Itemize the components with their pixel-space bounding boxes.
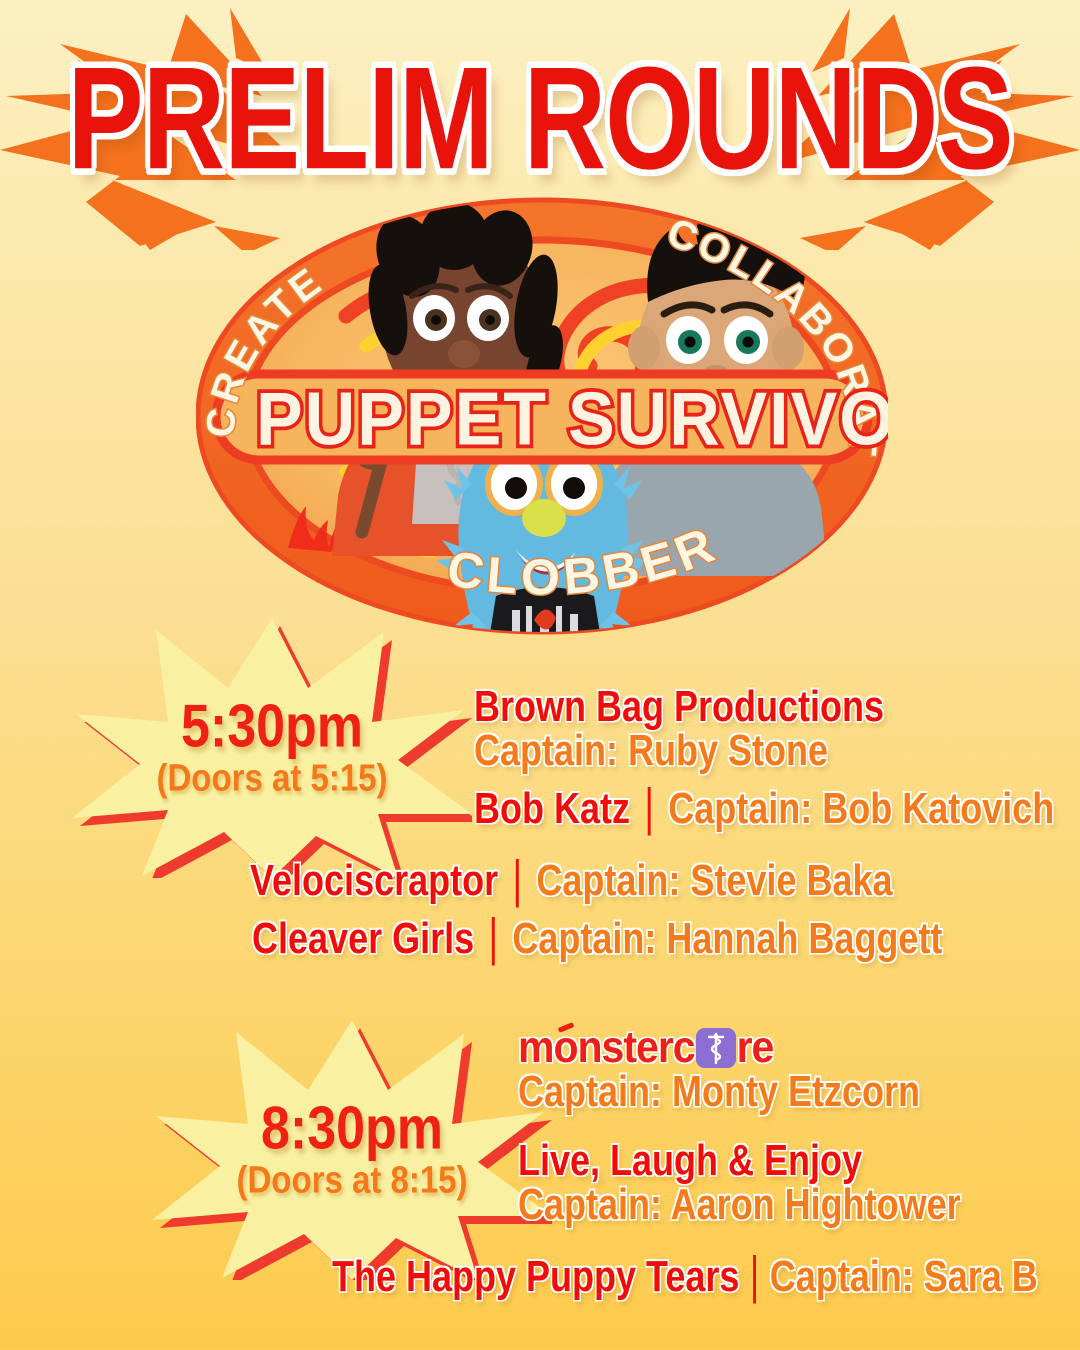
session-1-entry-2: Bob Katz | Captain: Bob Katovich [474,790,1074,828]
puppet-survivor-logo: CREATE COLLABORATE CLOBBER PUPPET SURVIV… [196,196,888,636]
list-item: Live, Laugh & Enjoy [518,1142,1078,1180]
monstercare-part-1: m [518,1024,553,1071]
session-1-time: 5:30pm [181,696,363,758]
list-item: Velociscraptor | Captain: Stevie Baka [250,862,1080,900]
session-1-entries: Brown Bag Productions Captain: Ruby Ston… [474,688,1074,770]
team-captain: Captain: Sara B [770,1253,1038,1300]
session-2-entry-2: Live, Laugh & Enjoy Captain: Aaron Hight… [518,1142,1078,1224]
list-item: Bob Katz | Captain: Bob Katovich [474,790,1074,828]
list-item: Brown Bag Productions [474,688,1074,726]
team-name: Cleaver Girls [252,915,474,962]
session-2-time-burst: 8:30pm (Doors at 8:15) [152,1020,552,1280]
session-1-entry-4: Cleaver Girls | Captain: Hannah Baggett [252,920,1080,958]
rod-of-asclepius-icon [696,1028,736,1068]
team-name: Live, Laugh & Enjoy [518,1137,862,1184]
team-captain: Captain: Monty Etzcorn [518,1068,920,1115]
logo-word-puppet: PUPPET [256,377,548,461]
team-name: The Happy Puppy Tears [332,1253,739,1300]
monstercare-part-2: nsterc [578,1024,695,1071]
separator: | [744,1248,765,1303]
team-captain: Captain: Hannah Baggett [512,915,942,962]
session-1-doors: (Doors at 5:15) [156,758,387,798]
team-name: Bob Katz [474,785,630,832]
list-item: Captain: Aaron Hightower [518,1186,1078,1224]
list-item: m o nsterc [518,1026,1078,1069]
session-2-entry-1: m o nsterc [518,1026,1078,1112]
session-2-entry-3: The Happy Puppy Tears | Captain: Sara B [332,1258,1080,1296]
monstercare-wordmark: m o nsterc [518,1026,773,1069]
monstercare-letter-o: o [553,1024,577,1071]
separator: | [503,852,532,907]
monstercare-part-3: re [737,1024,774,1071]
team-name: Brown Bag Productions [474,683,884,730]
session-2-time: 8:30pm [261,1098,443,1160]
page-title: PRELIM ROUNDS [0,46,1080,192]
logo-word-survivor: SURVIVOR [568,377,888,461]
team-captain: Captain: Aaron Hightower [518,1181,961,1228]
team-captain: Captain: Bob Katovich [668,785,1054,832]
session-1: 5:30pm (Doors at 5:15) Brown Bag Product… [0,600,1080,1000]
list-item: Cleaver Girls | Captain: Hannah Baggett [252,920,1080,958]
session-2-doors: (Doors at 8:15) [236,1160,467,1200]
team-captain: Captain: Ruby Stone [474,727,828,774]
team-captain: Captain: Stevie Baka [536,857,892,904]
logo-graphic: CREATE COLLABORATE CLOBBER PUPPET SURVIV… [196,196,888,636]
session-2: 8:30pm (Doors at 8:15) m o nsterc [0,1000,1080,1340]
list-item: Captain: Ruby Stone [474,732,1074,770]
list-item: The Happy Puppy Tears | Captain: Sara B [332,1258,1080,1296]
poster-root: PRELIM ROUNDS [0,0,1080,1350]
session-1-entry-3: Velociscraptor | Captain: Stevie Baka [250,862,1080,900]
team-name: Velociscraptor [250,857,498,904]
separator: | [479,910,508,965]
list-item: Captain: Monty Etzcorn [518,1073,1078,1111]
separator: | [634,780,663,835]
session-1-time-burst: 5:30pm (Doors at 5:15) [72,618,472,878]
